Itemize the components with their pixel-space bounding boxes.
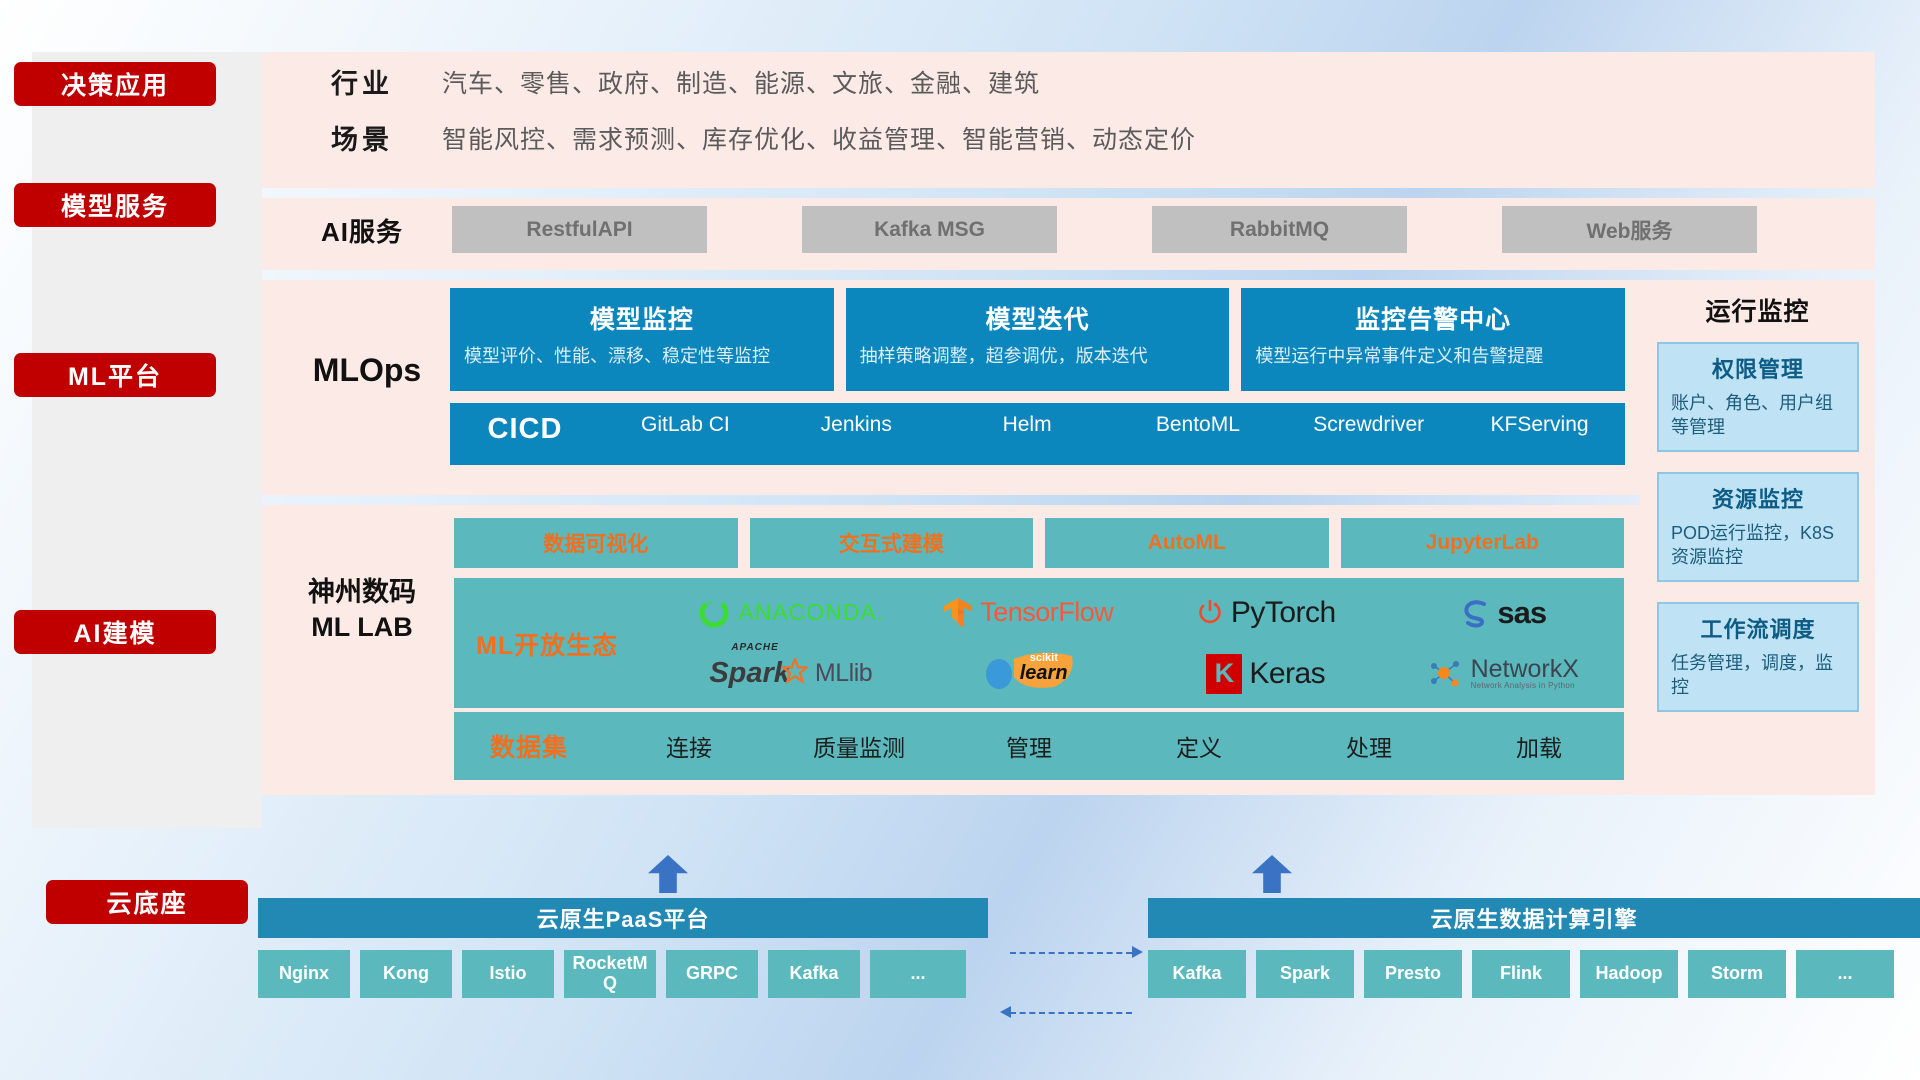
spark-star-icon [782, 658, 808, 684]
rail-item-ml-platform[interactable]: ML平台 [14, 353, 216, 397]
spark-mllib-logo: APACHE Spark MLlib [709, 657, 872, 690]
scenario-label: 场景 [282, 118, 442, 157]
mlops-card-alert-center[interactable]: 监控告警中心 模型运行中异常事件定义和告警提醒 [1241, 288, 1625, 391]
spark-wordmark: Spark [709, 657, 790, 690]
monitoring-card-workflow[interactable]: 工作流调度 任务管理，调度，监控 [1657, 602, 1859, 712]
mlops-card-list: 模型监控 模型评价、性能、漂移、稳定性等监控 模型迭代 抽样策略调整，超参调优，… [450, 288, 1625, 391]
cloud-engine-header: 云原生数据计算引擎 [1148, 898, 1920, 938]
card-desc: 任务管理，调度，监控 [1671, 651, 1845, 700]
mllib-wordmark: MLlib [815, 659, 872, 688]
keras-mark-icon: K [1206, 654, 1242, 694]
dataset-item-define[interactable]: 定义 [1114, 729, 1284, 763]
rail-item-ai-modeling[interactable]: AI建模 [14, 610, 216, 654]
ml-lab-label-line1: 神州数码 [274, 575, 450, 610]
mlops-label: MLOps [282, 352, 452, 389]
rail-item-label: 模型服务 [61, 187, 169, 223]
rail-item-cloud-base[interactable]: 云底座 [46, 880, 248, 924]
ai-service-chip-restfulapi[interactable]: RestfulAPI [452, 206, 707, 253]
networkx-logo: NetworkX Network Analysis in Python [1428, 657, 1579, 691]
paas-chip-istio[interactable]: Istio [462, 950, 554, 998]
pytorch-wordmark: PyTorch [1231, 596, 1336, 630]
anaconda-mark-icon [697, 596, 731, 630]
tensorflow-logo: TensorFlow [943, 596, 1113, 630]
card-title: 模型监控 [464, 300, 820, 336]
card-desc: 模型评价、性能、漂移、稳定性等监控 [464, 344, 820, 368]
engine-chip-spark[interactable]: Spark [1256, 950, 1354, 998]
keras-mark-letter: K [1215, 658, 1235, 689]
cicd-item-gitlab-ci[interactable]: GitLab CI [600, 413, 771, 437]
cicd-item-kfserving[interactable]: KFServing [1454, 413, 1625, 437]
card-desc: POD运行监控，K8S资源监控 [1671, 521, 1845, 570]
ml-lab-tool-list: 数据可视化 交互式建模 AutoML JupyterLab [454, 518, 1624, 568]
card-title: 工作流调度 [1671, 612, 1845, 644]
paas-chip-more[interactable]: ... [870, 950, 966, 998]
networkx-graph-icon [1428, 657, 1464, 691]
cicd-item-helm[interactable]: Helm [942, 413, 1113, 437]
spark-apache-text: APACHE [731, 642, 778, 653]
ml-ecosystem-title: ML开放生态 [476, 626, 618, 662]
dashed-arrow-right-icon [1132, 946, 1143, 958]
card-desc: 账户、角色、用户组等管理 [1671, 391, 1845, 440]
anaconda-logo: ANACONDA. [697, 596, 884, 630]
mlops-card-model-monitoring[interactable]: 模型监控 模型评价、性能、漂移、稳定性等监控 [450, 288, 834, 391]
cicd-item-screwdriver[interactable]: Screwdriver [1283, 413, 1454, 437]
ml-lab-label: 神州数码 ML LAB [274, 575, 450, 644]
monitoring-column: 运行监控 权限管理 账户、角色、用户组等管理 资源监控 POD运行监控，K8S资… [1640, 280, 1875, 795]
monitoring-card-resource[interactable]: 资源监控 POD运行监控，K8S资源监控 [1657, 472, 1859, 582]
paas-chip-rocketmq[interactable]: RocketMQ [564, 950, 656, 998]
dataset-item-load[interactable]: 加载 [1454, 729, 1624, 763]
keras-wordmark: Keras [1249, 657, 1325, 691]
engine-chip-storm[interactable]: Storm [1688, 950, 1786, 998]
anaconda-wordmark: ANACONDA. [738, 599, 884, 626]
engine-chip-hadoop[interactable]: Hadoop [1580, 950, 1678, 998]
industry-values: 汽车、零售、政府、制造、能源、文旅、金融、建筑 [442, 64, 1040, 100]
ai-service-chip-list: RestfulAPI Kafka MSG RabbitMQ Web服务 [452, 206, 1852, 253]
card-desc: 模型运行中异常事件定义和告警提醒 [1255, 344, 1611, 368]
engine-chip-more[interactable]: ... [1796, 950, 1894, 998]
paas-chip-list: Nginx Kong Istio RocketMQ GRPC Kafka ... [258, 950, 966, 998]
cicd-item-jenkins[interactable]: Jenkins [771, 413, 942, 437]
ml-ecosystem-panel: ML开放生态 ANACONDA. TensorFlow [454, 578, 1624, 708]
card-title: 资源监控 [1671, 482, 1845, 514]
cicd-bar: CICD GitLab CI Jenkins Helm BentoML Scre… [450, 403, 1625, 465]
dataset-item-connect[interactable]: 连接 [604, 729, 774, 763]
dashed-connector-bottom [1010, 1012, 1132, 1014]
card-title: 模型迭代 [860, 300, 1216, 336]
engine-chip-flink[interactable]: Flink [1472, 950, 1570, 998]
paas-chip-nginx[interactable]: Nginx [258, 950, 350, 998]
engine-chip-presto[interactable]: Presto [1364, 950, 1462, 998]
ai-service-chip-rabbitmq[interactable]: RabbitMQ [1152, 206, 1407, 253]
industry-label: 行业 [282, 62, 442, 101]
rail-item-label: AI建模 [73, 614, 156, 650]
ml-lab-tool-data-visualization[interactable]: 数据可视化 [454, 518, 738, 568]
ml-lab-label-line2: ML LAB [274, 610, 450, 645]
paas-chip-grpc[interactable]: GRPC [666, 950, 758, 998]
engine-chip-list: Kafka Spark Presto Flink Hadoop Storm ..… [1148, 950, 1894, 998]
industry-row: 行业 汽车、零售、政府、制造、能源、文旅、金融、建筑 [282, 62, 1040, 101]
dataset-item-quality-monitor[interactable]: 质量监测 [774, 729, 944, 763]
left-rail [32, 52, 262, 828]
engine-chip-kafka[interactable]: Kafka [1148, 950, 1246, 998]
cicd-item-bentoml[interactable]: BentoML [1112, 413, 1283, 437]
ml-lab-tool-interactive-modeling[interactable]: 交互式建模 [750, 518, 1034, 568]
paas-chip-kong[interactable]: Kong [360, 950, 452, 998]
ai-service-chip-web[interactable]: Web服务 [1502, 206, 1757, 253]
cloud-paas-header: 云原生PaaS平台 [258, 898, 988, 938]
keras-logo: K Keras [1206, 654, 1325, 694]
pytorch-flame-icon [1196, 597, 1224, 629]
networkx-tagline: Network Analysis in Python [1471, 682, 1579, 690]
rail-item-model-service[interactable]: 模型服务 [14, 183, 216, 227]
rail-item-label: ML平台 [68, 357, 162, 393]
dashed-connector-top [1010, 952, 1132, 954]
card-title: 权限管理 [1671, 352, 1845, 384]
sas-wordmark: sas [1497, 595, 1546, 631]
monitoring-heading: 运行监控 [1640, 292, 1875, 328]
rail-item-label: 云底座 [106, 884, 187, 920]
rail-item-decision-apps[interactable]: 决策应用 [14, 62, 216, 106]
ml-lab-tool-automl[interactable]: AutoML [1045, 518, 1329, 568]
sas-mark-icon [1460, 597, 1490, 629]
card-desc: 抽样策略调整，超参调优，版本迭代 [860, 344, 1216, 368]
mlops-card-model-iteration[interactable]: 模型迭代 抽样策略调整，超参调优，版本迭代 [846, 288, 1230, 391]
cicd-title: CICD [450, 413, 600, 446]
ai-service-label: AI服务 [282, 212, 442, 249]
monitoring-card-permission[interactable]: 权限管理 账户、角色、用户组等管理 [1657, 342, 1859, 452]
ml-ecosystem-logo-grid: ANACONDA. TensorFlow PyTorch [672, 582, 1622, 704]
dataset-item-process[interactable]: 处理 [1284, 729, 1454, 763]
dataset-item-manage[interactable]: 管理 [944, 729, 1114, 763]
card-title: 监控告警中心 [1255, 300, 1611, 336]
scenario-row: 场景 智能风控、需求预测、库存优化、收益管理、智能营销、动态定价 [282, 118, 1196, 157]
dashed-arrow-left-icon [1000, 1006, 1011, 1018]
networkx-wordmark: NetworkX [1471, 657, 1579, 682]
learn-text: learn [1020, 662, 1068, 685]
scikit-learn-logo: scikit learn [981, 651, 1076, 696]
scenario-values: 智能风控、需求预测、库存优化、收益管理、智能营销、动态定价 [442, 120, 1196, 156]
paas-chip-kafka[interactable]: Kafka [768, 950, 860, 998]
sas-logo: sas [1460, 595, 1546, 631]
dataset-title: 数据集 [454, 728, 604, 764]
tensorflow-mark-icon [943, 596, 973, 630]
ai-service-chip-kafka-msg[interactable]: Kafka MSG [802, 206, 1057, 253]
ml-lab-tool-jupyterlab[interactable]: JupyterLab [1341, 518, 1625, 568]
pytorch-logo: PyTorch [1196, 596, 1336, 630]
rail-item-label: 决策应用 [61, 66, 169, 102]
tensorflow-wordmark: TensorFlow [980, 597, 1113, 628]
dataset-bar: 数据集 连接 质量监测 管理 定义 处理 加载 [454, 712, 1624, 780]
